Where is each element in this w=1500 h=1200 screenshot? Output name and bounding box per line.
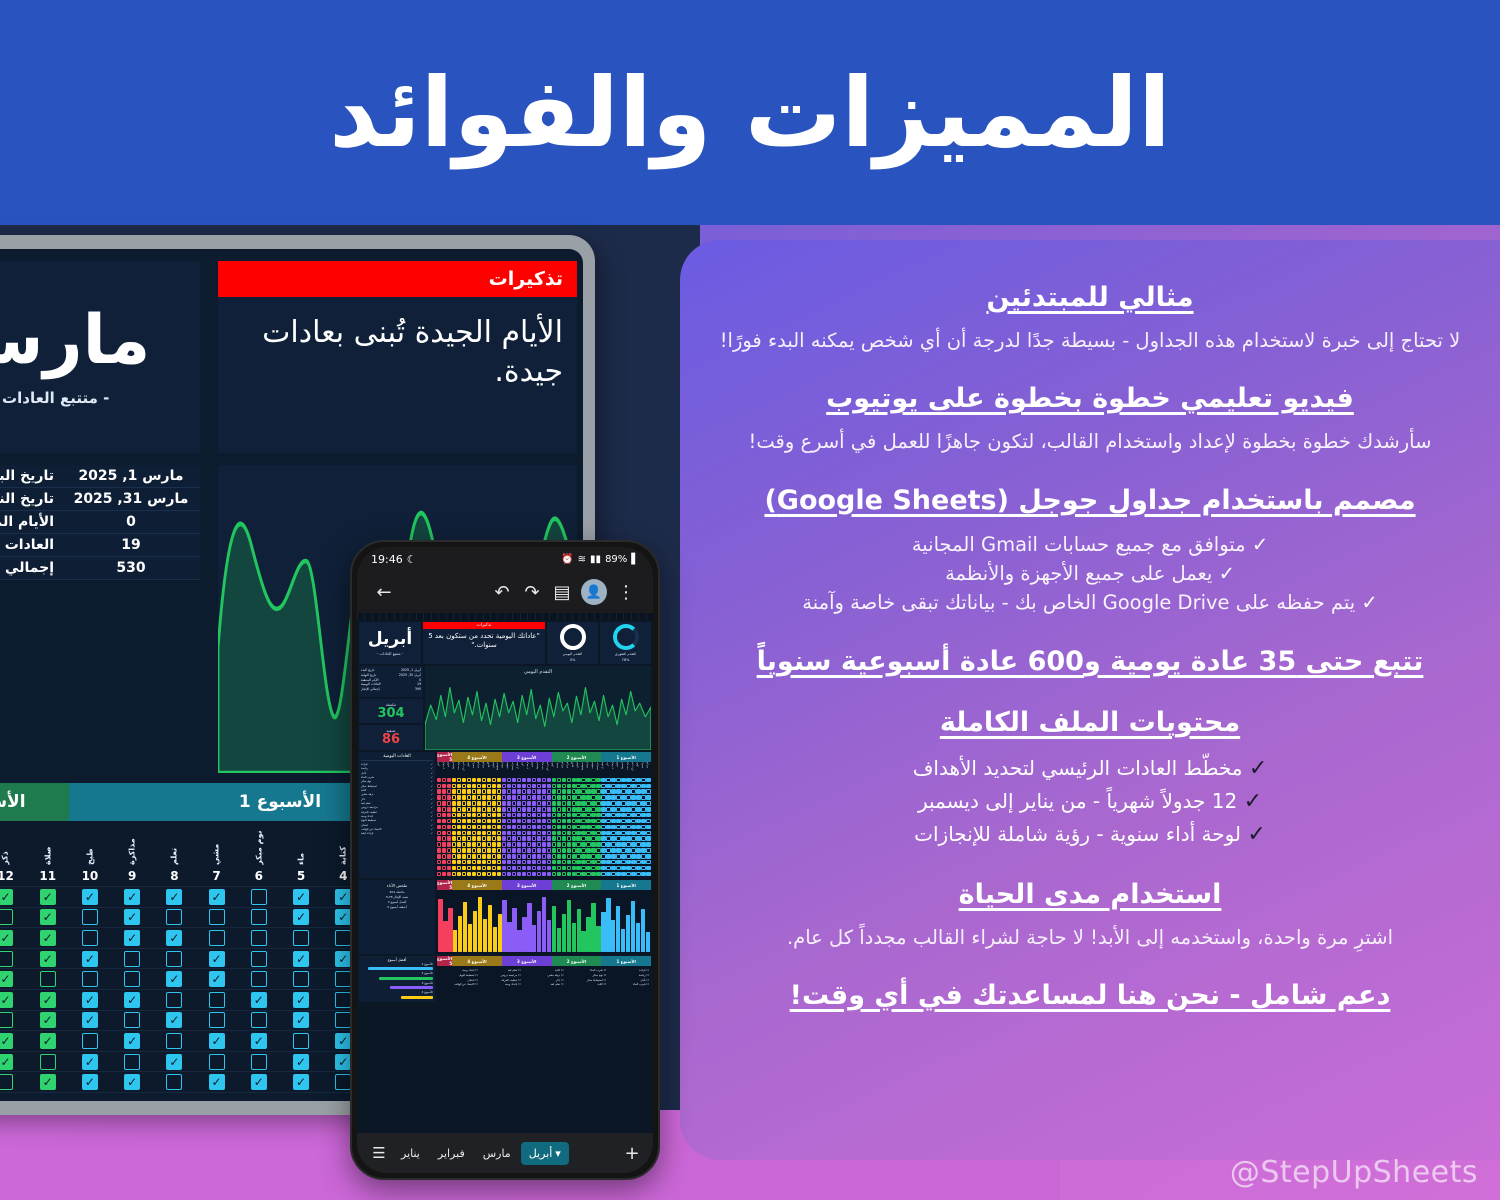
phone-cell[interactable] xyxy=(586,871,591,877)
tablet-cell[interactable] xyxy=(195,1011,237,1031)
tablet-cell[interactable]: ✓ xyxy=(27,928,69,948)
checkbox-empty-icon xyxy=(497,801,502,806)
tablet-cell[interactable] xyxy=(69,1031,111,1051)
checkbox-checked-icon: ✓ xyxy=(251,1074,267,1090)
tablet-cell[interactable] xyxy=(0,1011,27,1031)
bar xyxy=(443,921,447,952)
checkbox-checked-icon xyxy=(576,801,581,806)
checkbox-checked-icon xyxy=(472,866,477,871)
sheet-tab-march[interactable]: مارس xyxy=(475,1142,519,1165)
table-row: مارس 31, 2025 تاريخ النهاية xyxy=(0,488,200,511)
phone-cell[interactable] xyxy=(467,871,472,877)
checkbox-checked-icon xyxy=(507,831,512,836)
tablet-cell[interactable]: ✓ xyxy=(111,928,153,948)
column-header[interactable] xyxy=(572,613,579,620)
checkbox-empty-icon xyxy=(482,778,487,783)
phone-cell[interactable] xyxy=(556,871,561,877)
tablet-cell[interactable]: ✓ xyxy=(280,1011,322,1031)
column-header[interactable] xyxy=(564,613,571,620)
checkbox-checked-icon xyxy=(636,825,641,830)
column-header[interactable] xyxy=(483,613,490,620)
checkbox-checked-icon xyxy=(477,778,482,783)
habit-name: قراءة ليلية xyxy=(361,831,373,835)
comment-icon[interactable]: ▤ xyxy=(547,577,577,607)
checkbox-empty-icon xyxy=(626,795,631,800)
checkbox-empty-icon xyxy=(641,795,646,800)
column-header[interactable] xyxy=(394,613,401,620)
tablet-cell[interactable]: ✓ xyxy=(153,1052,195,1072)
checkbox-checked-icon xyxy=(646,813,651,818)
tablet-cell[interactable]: ✓ xyxy=(280,949,322,969)
tablet-cell[interactable]: ✓ xyxy=(111,887,153,907)
tablet-cell[interactable]: ✓ xyxy=(195,1031,237,1051)
checkbox-empty-icon xyxy=(626,872,631,877)
checkbox-checked-icon xyxy=(552,778,557,783)
back-icon[interactable]: ← xyxy=(369,577,399,607)
checkbox-checked-icon xyxy=(591,860,596,865)
checkbox-checked-icon xyxy=(442,831,447,836)
checkbox-checked-icon: ✓ xyxy=(82,1054,98,1070)
tablet-cell[interactable] xyxy=(0,949,27,969)
phone-cell[interactable] xyxy=(581,871,586,877)
phone-cell[interactable] xyxy=(457,871,462,877)
tablet-cell[interactable]: ✓ xyxy=(238,1031,280,1051)
checkbox-checked-icon: ✓ xyxy=(0,930,13,946)
tablet-cell[interactable]: ✓ xyxy=(27,887,69,907)
column-header[interactable] xyxy=(520,613,527,620)
tablet-cell[interactable] xyxy=(111,969,153,989)
checkbox-empty-icon xyxy=(542,807,547,812)
phone-cell[interactable] xyxy=(616,871,621,877)
column-header[interactable] xyxy=(460,613,467,620)
tablet-cell[interactable]: ✓ xyxy=(27,1072,69,1092)
column-header[interactable] xyxy=(609,613,616,620)
sheet-tab-april-active[interactable]: أبريل ▾ xyxy=(521,1142,569,1165)
checkbox-checked-icon xyxy=(606,801,611,806)
checkbox-empty-icon xyxy=(209,1054,225,1070)
checkbox-empty-icon xyxy=(646,848,651,853)
phone-cell[interactable] xyxy=(591,871,596,877)
checkbox-checked-icon: ✓ xyxy=(209,951,225,967)
checkbox-checked-icon xyxy=(591,842,596,847)
phone-cell[interactable] xyxy=(596,871,601,877)
column-header[interactable] xyxy=(623,613,630,620)
tablet-cell[interactable]: ✓ xyxy=(27,1031,69,1051)
checkbox-checked-icon xyxy=(517,801,522,806)
column-header[interactable] xyxy=(512,613,519,620)
checkbox-checked-icon xyxy=(442,848,447,853)
tablet-cell[interactable] xyxy=(238,887,280,907)
column-header[interactable] xyxy=(631,613,638,620)
checkbox-checked-icon xyxy=(502,848,507,853)
checkbox-empty-icon xyxy=(447,801,452,806)
checkbox-empty-icon xyxy=(457,848,462,853)
checkbox-checked-icon xyxy=(562,795,567,800)
tablet-cell[interactable] xyxy=(153,990,195,1010)
phone-cell[interactable] xyxy=(482,871,487,877)
column-header[interactable] xyxy=(446,613,453,620)
tablet-cell[interactable]: ✓ xyxy=(195,949,237,969)
tablet-cell[interactable] xyxy=(238,928,280,948)
column-header[interactable] xyxy=(616,613,623,620)
undo-icon[interactable]: ↶ xyxy=(487,577,517,607)
checkbox-checked-icon xyxy=(567,789,572,794)
tablet-day-name: صلاة xyxy=(27,821,69,865)
column-header[interactable] xyxy=(594,613,601,620)
checkbox-checked-icon xyxy=(467,872,472,877)
tablet-cell[interactable] xyxy=(238,1052,280,1072)
column-header[interactable] xyxy=(646,613,653,620)
tablet-cell[interactable]: ✓ xyxy=(280,1052,322,1072)
tablet-cell[interactable] xyxy=(69,908,111,928)
phone-lower-week-header: الأسبوع 1 xyxy=(601,956,651,966)
phone-cell[interactable] xyxy=(646,871,651,877)
phone-cell[interactable] xyxy=(576,871,581,877)
tablet-cell[interactable]: ✓ xyxy=(27,990,69,1010)
checkbox-checked-icon xyxy=(452,831,457,836)
feature-section-youtube: فيديو تعليمي خطوة بخطوة على يوتيوب سأرشد… xyxy=(718,381,1462,456)
column-header[interactable] xyxy=(490,613,497,620)
bar xyxy=(532,925,536,952)
tablet-info-table: مارس 1, 2025 تاريخ البدء مارس 31, 2025 ت… xyxy=(0,465,200,773)
tablet-cell[interactable]: ✓ xyxy=(69,887,111,907)
tablet-cell[interactable] xyxy=(153,1031,195,1051)
table-row: 0 الأيام المتبقية xyxy=(0,511,200,534)
checkbox-checked-icon xyxy=(547,778,552,783)
phone-cell[interactable] xyxy=(561,871,566,877)
checkbox-checked-icon xyxy=(522,836,527,841)
checkbox-empty-icon xyxy=(537,831,542,836)
feature-heading: استخدام مدى الحياة xyxy=(718,877,1462,912)
phone-summary-header: ملخص الأداء xyxy=(362,883,432,888)
phone-cell[interactable] xyxy=(496,871,501,877)
column-header[interactable] xyxy=(453,613,460,620)
checkbox-empty-icon xyxy=(517,866,522,871)
tablet-cell[interactable] xyxy=(153,949,195,969)
phone-cell[interactable] xyxy=(546,871,551,877)
bar xyxy=(581,931,585,952)
tablet-cell[interactable] xyxy=(153,908,195,928)
checkbox-checked-icon xyxy=(447,842,452,847)
column-header[interactable] xyxy=(409,613,416,620)
checkbox-empty-icon xyxy=(497,789,502,794)
checkbox-checked-icon xyxy=(636,789,641,794)
column-header[interactable] xyxy=(468,613,475,620)
tablet-cell[interactable]: ✓ xyxy=(0,928,27,948)
phone-day-label: تنظيف xyxy=(591,762,596,776)
phone-cell[interactable] xyxy=(521,871,526,877)
checkbox-checked-icon xyxy=(447,854,452,859)
tablet-cell[interactable] xyxy=(280,1031,322,1051)
checkbox-checked-icon xyxy=(477,836,482,841)
checkbox-empty-icon xyxy=(606,836,611,841)
checkbox-checked-icon xyxy=(631,784,636,789)
column-header[interactable] xyxy=(423,613,430,620)
tablet-cell[interactable]: ✓ xyxy=(111,990,153,1010)
checkbox-checked-icon xyxy=(472,836,477,841)
add-sheet-icon[interactable]: + xyxy=(621,1143,643,1164)
tablet-cell[interactable]: ✓ xyxy=(153,928,195,948)
tablet-cell[interactable]: ✓ xyxy=(238,990,280,1010)
checkbox-empty-icon xyxy=(467,866,472,871)
checkbox-empty-icon xyxy=(457,836,462,841)
checkbox-empty-icon xyxy=(507,848,512,853)
phone-cell[interactable] xyxy=(492,871,497,877)
column-header[interactable] xyxy=(431,613,438,620)
phone-cell[interactable] xyxy=(442,871,447,877)
checkbox-empty-icon xyxy=(621,789,626,794)
column-header[interactable] xyxy=(475,613,482,620)
phone-cell[interactable] xyxy=(536,871,541,877)
column-header[interactable] xyxy=(364,613,371,620)
column-header[interactable] xyxy=(416,613,423,620)
tablet-cell[interactable]: ✓ xyxy=(69,949,111,969)
checkbox-checked-icon xyxy=(646,854,651,859)
phone-cell[interactable] xyxy=(551,871,556,877)
checkbox-checked-icon xyxy=(502,778,507,783)
tablet-cell[interactable] xyxy=(69,928,111,948)
column-header[interactable] xyxy=(638,613,645,620)
checkbox-empty-icon xyxy=(596,801,601,806)
tablet-cell[interactable] xyxy=(238,969,280,989)
phone-spreadsheet[interactable]: التقدم الشهري 78% التقدم اليومي 0% تذكير… xyxy=(357,613,653,1133)
tablet-cell[interactable]: ✓ xyxy=(27,908,69,928)
checkbox-empty-icon xyxy=(251,1012,267,1028)
checkbox-empty-icon xyxy=(591,866,596,871)
tablet-cell[interactable]: ✓ xyxy=(0,887,27,907)
column-header[interactable] xyxy=(601,613,608,620)
column-header[interactable] xyxy=(542,613,549,620)
chevron-down-icon[interactable]: ▾ xyxy=(555,1147,561,1160)
tablet-cell[interactable] xyxy=(111,949,153,969)
tablet-cell[interactable]: ✓ xyxy=(153,887,195,907)
sheet-tab-january[interactable]: يناير xyxy=(393,1142,428,1165)
tablet-cell[interactable]: ✓ xyxy=(153,1011,195,1031)
checkbox-empty-icon xyxy=(576,872,581,877)
tablet-cell[interactable]: ✓ xyxy=(280,908,322,928)
tablet-cell[interactable]: ✓ xyxy=(280,887,322,907)
phone-cell[interactable] xyxy=(601,871,606,877)
tablet-cell[interactable] xyxy=(280,928,322,948)
tablet-cell[interactable] xyxy=(195,1052,237,1072)
checkbox-empty-icon xyxy=(557,819,562,824)
checkbox-checked-icon xyxy=(442,819,447,824)
checkbox-empty-icon xyxy=(487,831,492,836)
checkbox-checked-icon xyxy=(601,836,606,841)
checkbox-empty-icon xyxy=(611,860,616,865)
phone-cell[interactable] xyxy=(437,871,442,877)
phone-cell[interactable] xyxy=(626,871,631,877)
checkbox-empty-icon xyxy=(616,854,621,859)
checkbox-empty-icon xyxy=(606,807,611,812)
phone-cell[interactable] xyxy=(501,871,506,877)
tablet-cell[interactable]: ✓ xyxy=(0,969,27,989)
tablet-cell[interactable]: ✓ xyxy=(111,908,153,928)
phone-info-label: إجمالي الإنجاز xyxy=(361,687,379,692)
tablet-cell[interactable] xyxy=(238,949,280,969)
checkbox-empty-icon xyxy=(124,1054,140,1070)
checkbox-checked-icon xyxy=(631,860,636,865)
tablet-cell[interactable] xyxy=(111,1011,153,1031)
column-header[interactable] xyxy=(372,613,379,620)
tablet-cell[interactable]: ✓ xyxy=(111,1031,153,1051)
checkbox-empty-icon xyxy=(532,848,537,853)
checkbox-empty-icon xyxy=(631,866,636,871)
checkbox-empty-icon xyxy=(606,866,611,871)
phone-cell[interactable] xyxy=(531,871,536,877)
tablet-cell[interactable] xyxy=(69,969,111,989)
tablet-cell[interactable] xyxy=(238,1011,280,1031)
tablet-cell[interactable]: ✓ xyxy=(27,949,69,969)
feature-heading: مصمم باستخدام جداول جوجل (Google Sheets) xyxy=(718,483,1462,518)
phone-cell[interactable] xyxy=(452,871,457,877)
phone-cell[interactable] xyxy=(487,871,492,877)
checkbox-empty-icon xyxy=(457,778,462,783)
phone-cell[interactable] xyxy=(506,871,511,877)
checkbox-checked-icon xyxy=(562,807,567,812)
column-header[interactable] xyxy=(505,613,512,620)
phone-cell[interactable] xyxy=(462,871,467,877)
phone-cell[interactable] xyxy=(516,871,521,877)
checkbox-checked-icon xyxy=(557,813,562,818)
tablet-cell[interactable]: ✓ xyxy=(195,887,237,907)
phone-day-label: الابتع xyxy=(571,762,576,776)
checkbox-checked-icon: ✓ xyxy=(0,971,13,987)
phone-lower-section: الأسبوع 1الأسبوع 2الأسبوع 3الأسبوع 4الأس… xyxy=(357,956,653,1004)
checkbox-empty-icon xyxy=(507,807,512,812)
redo-icon[interactable]: ↷ xyxy=(517,577,547,607)
column-header[interactable] xyxy=(379,613,386,620)
phone-cell[interactable] xyxy=(477,871,482,877)
tablet-cell[interactable]: ✓ xyxy=(0,1031,27,1051)
column-header[interactable] xyxy=(401,613,408,620)
checkbox-checked-icon xyxy=(522,842,527,847)
tablet-cell[interactable] xyxy=(0,1072,27,1092)
column-header[interactable] xyxy=(535,613,542,620)
tablet-cell[interactable]: ✓ xyxy=(69,1072,111,1092)
phone-cell[interactable] xyxy=(447,871,452,877)
tablet-cell[interactable]: ✓ xyxy=(280,990,322,1010)
column-header[interactable] xyxy=(357,613,364,620)
checkbox-checked-icon xyxy=(646,784,651,789)
tablet-cell[interactable]: ✓ xyxy=(69,1011,111,1031)
tablet-cell[interactable] xyxy=(195,928,237,948)
phone-cell[interactable] xyxy=(472,871,477,877)
phone-cell[interactable] xyxy=(611,871,616,877)
phone-day-label: شرب ال xyxy=(631,762,636,776)
phone-cell[interactable] xyxy=(571,871,576,877)
checkbox-empty-icon xyxy=(537,872,542,877)
checkbox-empty-icon xyxy=(537,784,542,789)
phone-cell[interactable] xyxy=(526,871,531,877)
tablet-cell[interactable]: ✓ xyxy=(195,969,237,989)
column-header[interactable] xyxy=(438,613,445,620)
phone-day-label: نوم مب xyxy=(541,762,546,776)
checkbox-checked-icon xyxy=(537,819,542,824)
tablet-cell[interactable]: ✓ xyxy=(280,1072,322,1092)
tablet-cell[interactable] xyxy=(111,1052,153,1072)
tablet-cell[interactable] xyxy=(153,1072,195,1092)
phone-day-label: نوم مب xyxy=(457,762,462,776)
share-icon[interactable]: 👤 xyxy=(581,579,607,605)
checkbox-checked-icon: ✓ xyxy=(293,889,309,905)
column-header[interactable] xyxy=(586,613,593,620)
tablet-cell[interactable] xyxy=(27,1052,69,1072)
tablet-cell[interactable]: ✓ xyxy=(69,1052,111,1072)
tablet-cell[interactable]: ✓ xyxy=(69,990,111,1010)
phone-cell[interactable] xyxy=(511,871,516,877)
phone-best-week-rows: الأسبوع 1الأسبوع 2الأسبوع 3الأسبوع 4 xyxy=(361,962,433,999)
page-header: المميزات والفوائد xyxy=(0,0,1500,225)
checkbox-checked-icon xyxy=(636,795,641,800)
checkbox-empty-icon xyxy=(335,1074,351,1090)
tablet-cell[interactable] xyxy=(195,990,237,1010)
tablet-cell[interactable] xyxy=(280,969,322,989)
checkbox-empty-icon xyxy=(547,789,552,794)
checkbox-checked-icon xyxy=(487,854,492,859)
checkbox-empty-icon xyxy=(572,819,577,824)
checkbox-checked-icon xyxy=(467,813,472,818)
tablet-cell[interactable]: ✓ xyxy=(153,969,195,989)
checkbox-checked-icon xyxy=(452,778,457,783)
phone-cell[interactable] xyxy=(541,871,546,877)
column-header[interactable] xyxy=(527,613,534,620)
column-header[interactable] xyxy=(386,613,393,620)
tablet-cell[interactable]: ✓ xyxy=(195,1072,237,1092)
column-header[interactable] xyxy=(497,613,504,620)
checkbox-checked-icon xyxy=(557,795,562,800)
checkbox-checked-icon xyxy=(447,825,452,830)
tablet-cell[interactable]: ✓ xyxy=(0,1052,27,1072)
checkbox-checked-icon xyxy=(626,819,631,824)
checkbox-checked-icon xyxy=(581,825,586,830)
checkbox-checked-icon xyxy=(447,836,452,841)
phone-cell[interactable] xyxy=(621,871,626,877)
phone-lower-item: ☐ كتابة xyxy=(567,982,606,987)
tablet-cell[interactable] xyxy=(27,969,69,989)
tablet-reminder-header: تذكيرات xyxy=(218,261,577,297)
column-header[interactable] xyxy=(549,613,556,620)
overflow-menu-icon[interactable]: ⋮ xyxy=(611,577,641,607)
phone-cell[interactable] xyxy=(566,871,571,877)
checkbox-empty-icon xyxy=(576,795,581,800)
phone-cell[interactable] xyxy=(631,871,636,877)
phone-cell[interactable] xyxy=(606,871,611,877)
tablet-cell[interactable] xyxy=(195,908,237,928)
hamburger-icon[interactable]: ☰ xyxy=(367,1144,391,1162)
phone-donut-monthly: التقدم الشهري 78% xyxy=(600,622,651,664)
checkbox-empty-icon xyxy=(532,807,537,812)
tablet-cell[interactable]: ✓ xyxy=(27,1011,69,1031)
tablet-cell[interactable] xyxy=(0,908,27,928)
phone-day-label: كتابة xyxy=(616,762,621,776)
phone-week-header: الأسبوع 4 xyxy=(452,752,502,762)
phone-week-header: الأسبوع 5 xyxy=(437,752,452,762)
tablet-cell[interactable] xyxy=(238,908,280,928)
column-header[interactable] xyxy=(557,613,564,620)
checkbox-checked-icon xyxy=(586,836,591,841)
tablet-cell[interactable]: ✓ xyxy=(111,1072,153,1092)
sheet-tab-february[interactable]: فبراير xyxy=(430,1142,473,1165)
tablet-cell[interactable]: ✓ xyxy=(0,990,27,1010)
column-header[interactable] xyxy=(579,613,586,620)
phone-cell[interactable] xyxy=(636,871,641,877)
checkbox-empty-icon xyxy=(452,842,457,847)
bar xyxy=(438,899,442,952)
tablet-day-number: 8 xyxy=(153,865,195,887)
phone-cell[interactable] xyxy=(641,871,646,877)
tablet-cell[interactable]: ✓ xyxy=(238,1072,280,1092)
